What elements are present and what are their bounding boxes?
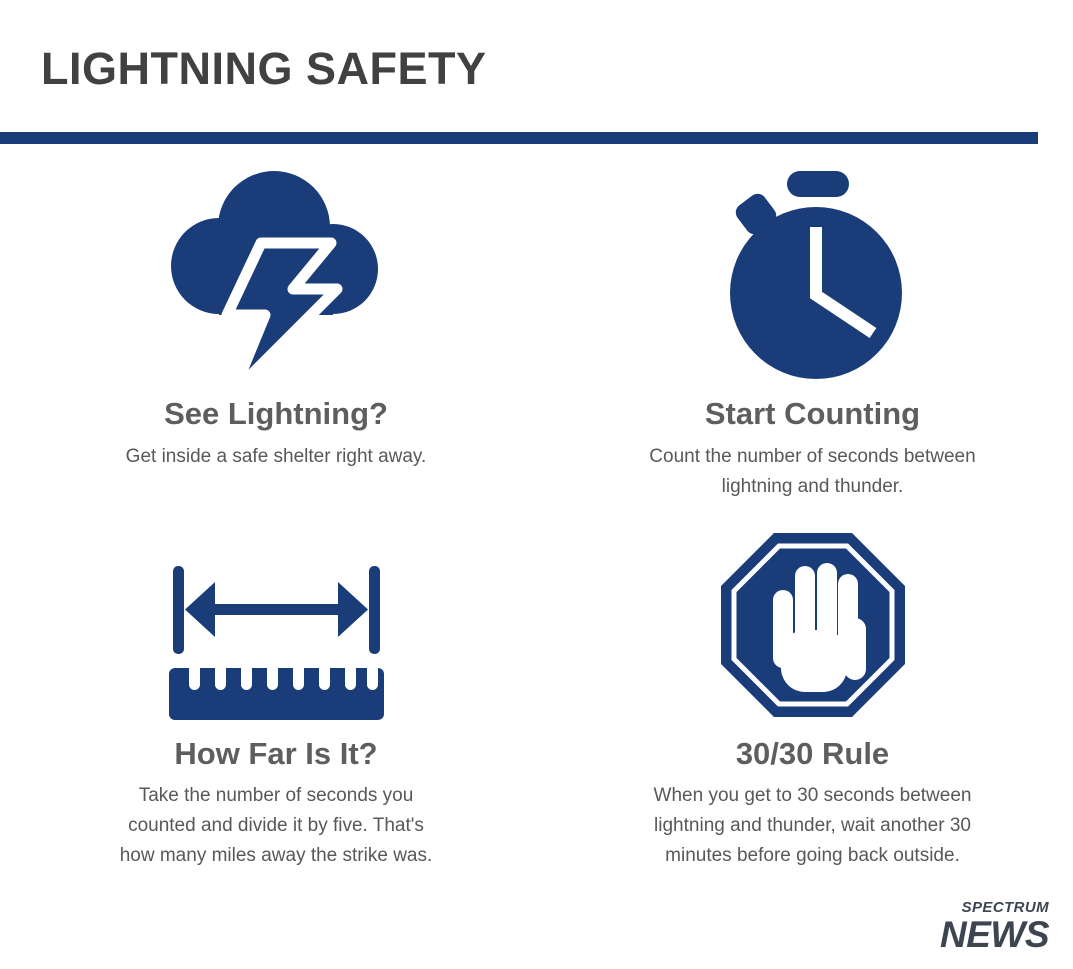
spectrum-news-logo: SPECTRUM NEWS <box>940 900 1049 953</box>
card-body: Take the number of seconds you counted a… <box>120 781 433 871</box>
title-divider-rule <box>0 132 1038 144</box>
icon-container <box>713 160 913 380</box>
icon-container <box>718 520 908 720</box>
body-line: how many miles away the strike was. <box>120 841 433 871</box>
card-body: Get inside a safe shelter right away. <box>126 442 427 472</box>
body-line: lightning and thunder, wait another 30 <box>654 811 972 841</box>
infographic-page: LIGHTNING SAFETY See Lightning? Get insi… <box>0 0 1073 969</box>
card-heading: See Lightning? <box>164 396 388 432</box>
body-line: Take the number of seconds you <box>120 781 433 811</box>
page-title: LIGHTNING SAFETY <box>41 44 487 94</box>
body-line: minutes before going back outside. <box>654 841 972 871</box>
card-see-lightning: See Lightning? Get inside a safe shelter… <box>0 160 552 502</box>
logo-spectrum-text: SPECTRUM <box>940 900 1049 915</box>
card-thirty-thirty-rule: 30/30 Rule When you get to 30 seconds be… <box>552 502 1073 872</box>
card-start-counting: Start Counting Count the number of secon… <box>552 160 1073 502</box>
stop-sign-hand-icon <box>718 530 908 720</box>
icon-container <box>169 520 384 720</box>
icon-container <box>161 160 391 380</box>
body-line: Get inside a safe shelter right away. <box>126 442 427 472</box>
card-heading: How Far Is It? <box>174 736 377 772</box>
card-body: When you get to 30 seconds between light… <box>654 781 972 871</box>
card-body: Count the number of seconds between ligh… <box>649 442 975 502</box>
body-line: counted and divide it by five. That's <box>120 811 433 841</box>
body-line: Count the number of seconds between <box>649 442 975 472</box>
card-how-far-is-it: How Far Is It? Take the number of second… <box>0 502 552 872</box>
card-heading: Start Counting <box>705 396 920 432</box>
stopwatch-icon <box>713 165 913 380</box>
storm-cloud-lightning-icon <box>161 165 391 380</box>
ruler-distance-icon <box>169 560 384 720</box>
card-heading: 30/30 Rule <box>736 736 889 772</box>
body-line: When you get to 30 seconds between <box>654 781 972 811</box>
logo-news-text: NEWS <box>940 916 1049 953</box>
safety-steps-grid: See Lightning? Get inside a safe shelter… <box>0 160 1073 871</box>
body-line: lightning and thunder. <box>649 472 975 502</box>
